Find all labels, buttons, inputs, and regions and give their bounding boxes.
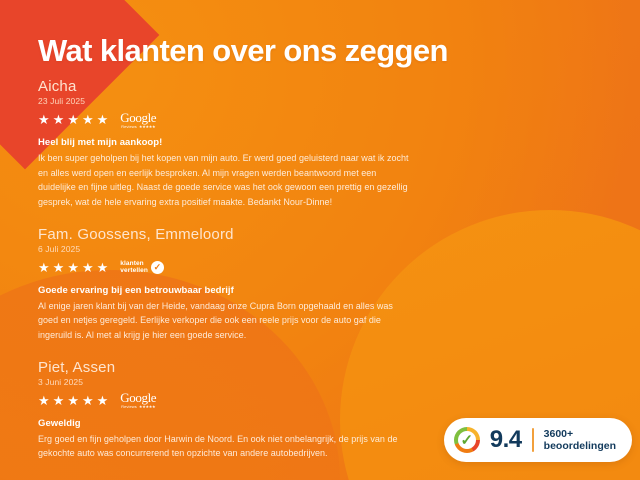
page-title: Wat klanten over ons zeggen bbox=[38, 33, 448, 69]
review-item: Aicha 23 Juli 2025 ★ ★ ★ ★ ★ Google Revi… bbox=[38, 78, 438, 210]
rating-label: beoordelingen bbox=[544, 440, 616, 452]
google-mini-stars: ★★★★★ bbox=[139, 125, 155, 129]
verified-check-icon: ✓ bbox=[454, 427, 480, 453]
star-icon: ★ bbox=[82, 394, 94, 407]
reviewer-name: Piet, Assen bbox=[38, 359, 438, 376]
review-body: Erg goed en fijn geholpen door Harwin de… bbox=[38, 432, 410, 461]
star-icon: ★ bbox=[38, 261, 50, 274]
google-wordmark: Google bbox=[120, 391, 156, 404]
google-reviews-badge: Google Reviews ★★★★★ bbox=[120, 111, 156, 129]
star-icon: ★ bbox=[67, 113, 79, 126]
star-icon: ★ bbox=[53, 394, 65, 407]
star-icon: ★ bbox=[97, 261, 109, 274]
review-headline: Heel blij met mijn aankoop! bbox=[38, 137, 438, 148]
rating-count: 3600+ bbox=[544, 428, 616, 440]
google-reviews-badge: Google Reviews ★★★★★ bbox=[120, 391, 156, 409]
star-icon: ★ bbox=[53, 113, 65, 126]
google-reviews-label: Reviews bbox=[121, 405, 137, 409]
review-body: Al enige jaren klant bij van der Heide, … bbox=[38, 299, 410, 343]
google-wordmark: Google bbox=[120, 111, 156, 124]
star-rating: ★ ★ ★ ★ ★ bbox=[38, 113, 108, 126]
reviews-list: Aicha 23 Juli 2025 ★ ★ ★ ★ ★ Google Revi… bbox=[38, 78, 438, 477]
review-headline: Goede ervaring bij een betrouwbaar bedri… bbox=[38, 285, 438, 296]
review-item: Fam. Goossens, Emmeloord 6 Juli 2025 ★ ★… bbox=[38, 226, 438, 343]
review-date: 23 Juli 2025 bbox=[38, 96, 438, 106]
review-date: 6 Juli 2025 bbox=[38, 244, 438, 254]
google-mini-stars: ★★★★★ bbox=[139, 405, 155, 409]
star-icon: ★ bbox=[53, 261, 65, 274]
star-rating: ★ ★ ★ ★ ★ bbox=[38, 394, 108, 407]
star-icon: ★ bbox=[67, 394, 79, 407]
star-icon: ★ bbox=[82, 261, 94, 274]
review-headline: Geweldig bbox=[38, 418, 438, 429]
reviewer-name: Aicha bbox=[38, 78, 438, 95]
review-item: Piet, Assen 3 Juni 2025 ★ ★ ★ ★ ★ Google… bbox=[38, 359, 438, 461]
star-icon: ★ bbox=[38, 394, 50, 407]
rating-badge: ✓ 9.4 3600+ beoordelingen bbox=[444, 418, 632, 462]
klantenvertellen-line1: klanten bbox=[120, 260, 148, 267]
rating-divider bbox=[532, 428, 534, 452]
star-icon: ★ bbox=[38, 113, 50, 126]
check-circle-icon: ✓ bbox=[151, 261, 164, 274]
review-date: 3 Juni 2025 bbox=[38, 377, 438, 387]
google-reviews-label: Reviews bbox=[121, 125, 137, 129]
check-glyph: ✓ bbox=[460, 433, 473, 448]
rating-score: 9.4 bbox=[490, 426, 522, 454]
star-rating: ★ ★ ★ ★ ★ bbox=[38, 261, 108, 274]
star-icon: ★ bbox=[97, 113, 109, 126]
klantenvertellen-line2: vertellen bbox=[120, 267, 148, 274]
star-icon: ★ bbox=[97, 394, 109, 407]
reviewer-name: Fam. Goossens, Emmeloord bbox=[38, 226, 438, 243]
star-icon: ★ bbox=[67, 261, 79, 274]
star-icon: ★ bbox=[82, 113, 94, 126]
klantenvertellen-badge: klanten vertellen ✓ bbox=[120, 260, 164, 275]
review-body: Ik ben super geholpen bij het kopen van … bbox=[38, 151, 410, 209]
